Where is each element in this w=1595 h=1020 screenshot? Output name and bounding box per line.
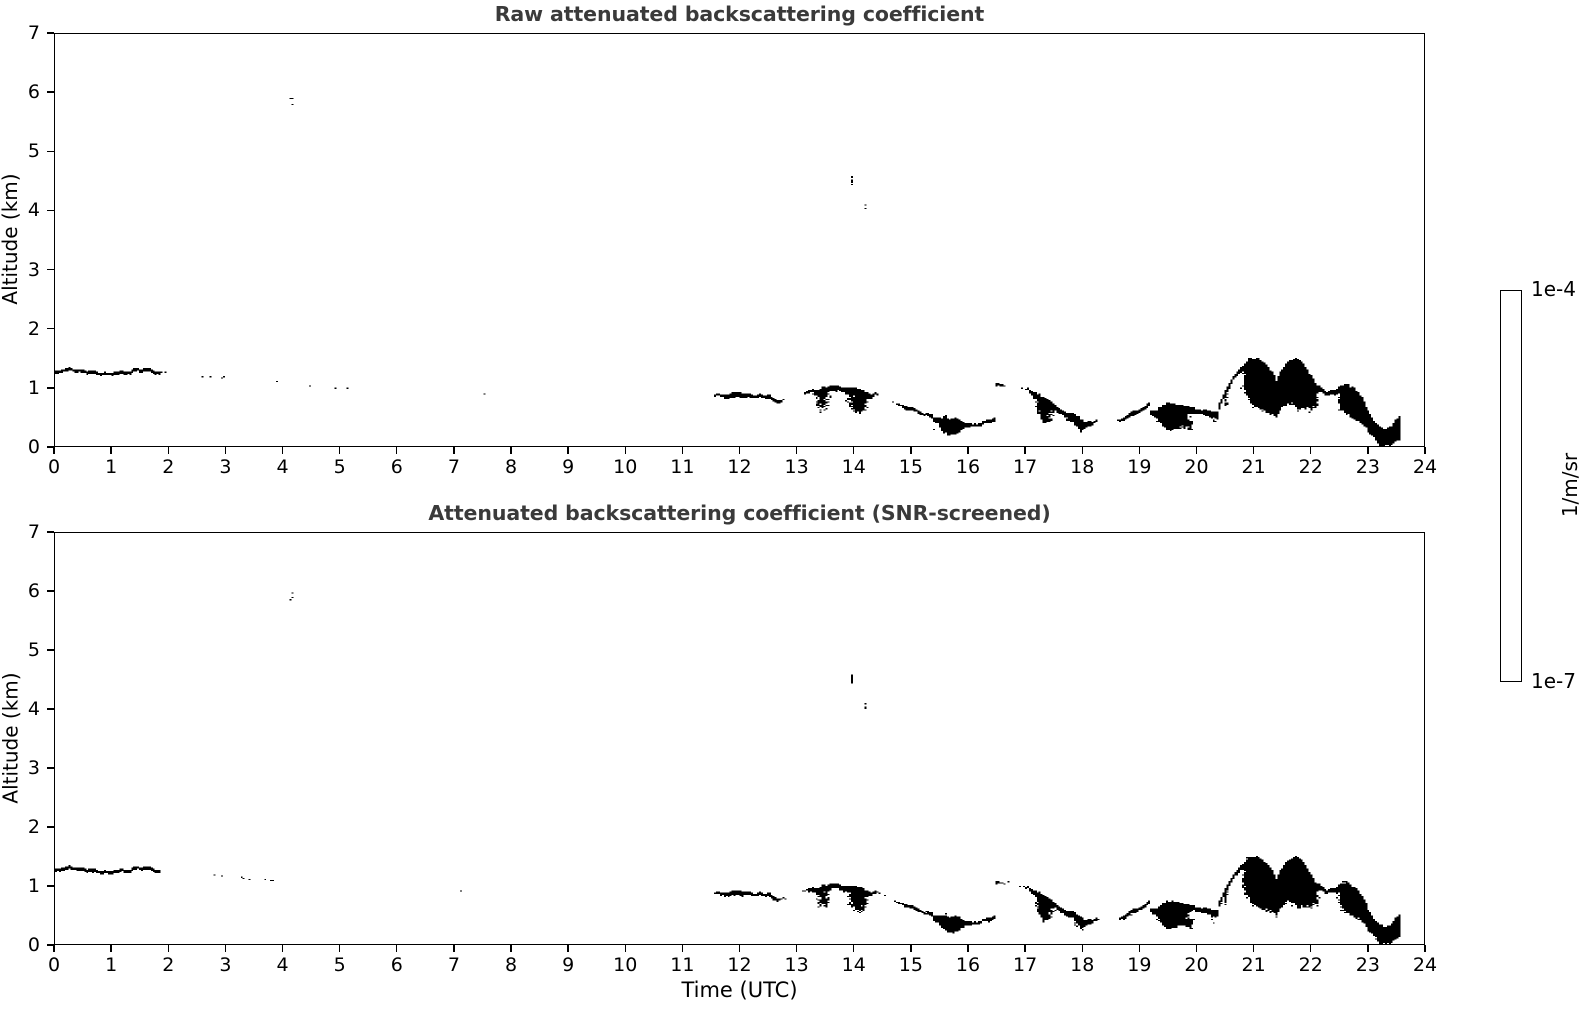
colorbar-gradient [1500,290,1522,682]
figure-root: Raw attenuated backscattering coefficien… [0,0,1595,1020]
colorbar-tick-max: 1e-4 [1531,277,1576,301]
colorbar-tick-min: 1e-7 [1531,669,1576,693]
colorbar-canvas [1501,291,1521,681]
colorbar: 1e-4 1e-7 1/m/sr [0,0,1595,1020]
colorbar-axis-label: 1/m/sr [1558,385,1582,585]
